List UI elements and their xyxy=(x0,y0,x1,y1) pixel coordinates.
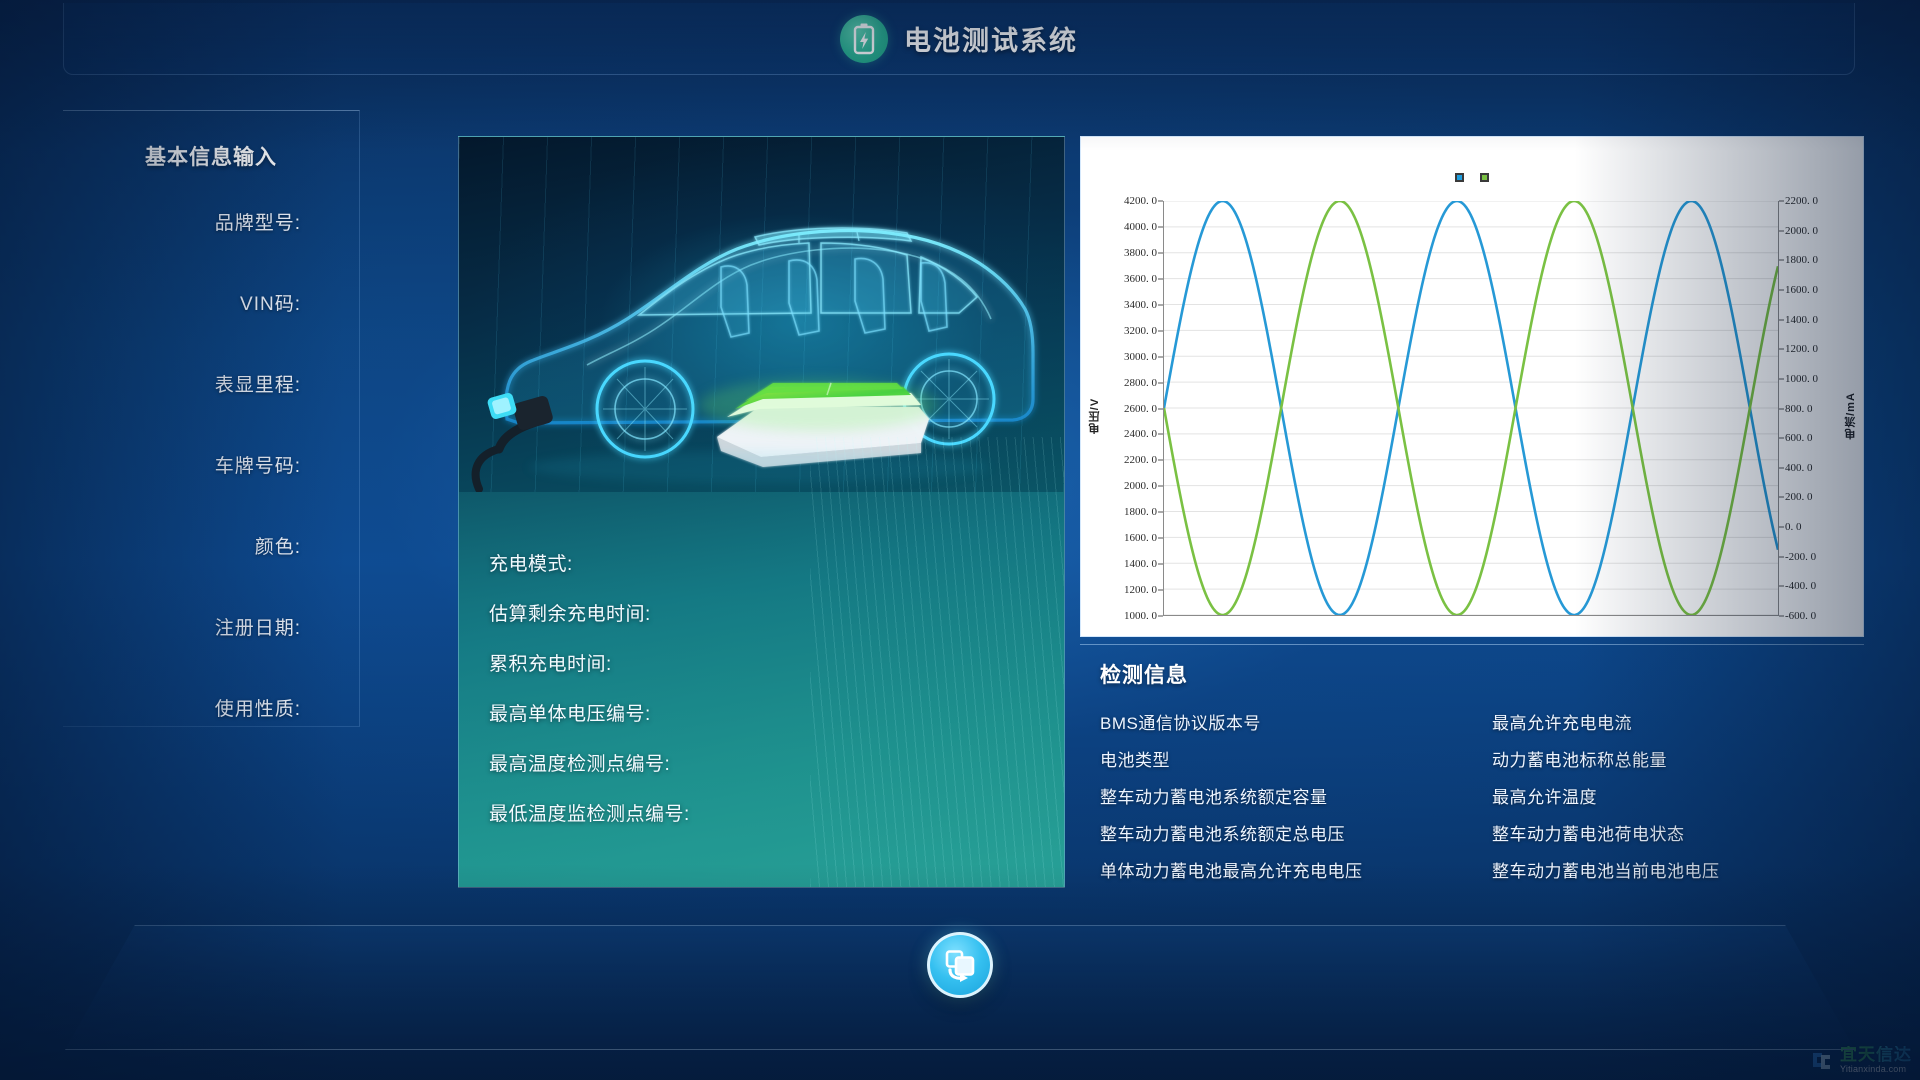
detect-item-max-cell-charge-voltage[interactable]: 单体动力蓄电池最高允许充电电压 xyxy=(1100,853,1492,890)
chart-tick-mark xyxy=(1779,230,1784,231)
chart-tick-label: 2200. 0 xyxy=(1124,454,1157,466)
chart-tick-mark xyxy=(1779,201,1784,202)
field-label-vin: VIN码: xyxy=(240,289,301,316)
chart-tick-mark xyxy=(1779,260,1784,261)
chart-y-axis-label-right: 电流/mA xyxy=(1843,392,1859,440)
switch-windows-icon[interactable] xyxy=(927,932,993,998)
vehicle-charging-panel: 充电模式: 估算剩余充电时间: 累积充电时间: 最高单体电压编号: 最高温度检测… xyxy=(458,136,1065,888)
field-row-plate-number[interactable]: 车牌号码: xyxy=(63,451,359,532)
field-row-usage-type[interactable]: 使用性质: xyxy=(63,694,359,775)
chart-tick-label: 1800. 0 xyxy=(1124,506,1157,518)
detect-item-max-allowed-temperature[interactable]: 最高允许温度 xyxy=(1492,779,1884,816)
detect-item-bms-protocol-version[interactable]: BMS通信协议版本号 xyxy=(1100,705,1492,742)
voltage-current-chart[interactable]: 电压/V 电流/mA 1000. 01200. 01400. 01600. 01… xyxy=(1080,136,1864,637)
chart-tick-label: 1400. 0 xyxy=(1124,558,1157,570)
chart-tick-label: 2400. 0 xyxy=(1124,428,1157,440)
page-title: 电池测试系统 xyxy=(904,19,1078,58)
chart-tick-label: 2000. 0 xyxy=(1785,225,1818,237)
chart-tick-label: 3000. 0 xyxy=(1124,351,1157,363)
chart-tick-label: 800. 0 xyxy=(1785,403,1813,415)
chart-tick-label: 1000. 0 xyxy=(1124,610,1157,622)
chart-tick-mark xyxy=(1779,349,1784,350)
chart-tick-label: 3200. 0 xyxy=(1124,325,1157,337)
field-label-color: 颜色: xyxy=(255,532,301,559)
field-label-max-temp-probe-id: 最高温度检测点编号: xyxy=(489,749,670,776)
detection-info-column-right: 最高允许充电电流 动力蓄电池标称总能量 最高允许温度 整车动力蓄电池荷电状态 整… xyxy=(1492,705,1884,890)
chart-tick-mark xyxy=(1779,497,1784,498)
chart-tick-mark xyxy=(1779,586,1784,587)
detection-info-title: 检测信息 xyxy=(1100,659,1188,689)
chart-tick-label: 1800. 0 xyxy=(1785,254,1818,266)
chart-y-axis-ticks-right: -600. 0-400. 0-200. 00. 0200. 0400. 0600… xyxy=(1779,193,1841,638)
battery-bolt-icon xyxy=(840,15,888,63)
watermark-logo-icon xyxy=(1809,1047,1835,1073)
chart-tick-label: 2600. 0 xyxy=(1124,403,1157,415)
field-label-max-cell-voltage-id: 最高单体电压编号: xyxy=(489,699,651,726)
charging-field-list: 充电模式: 估算剩余充电时间: 累积充电时间: 最高单体电压编号: 最高温度检测… xyxy=(489,537,1049,837)
chart-tick-label: -600. 0 xyxy=(1785,610,1816,622)
watermark-text-cn: 宜天信达 xyxy=(1840,1046,1912,1063)
legend-swatch-current[interactable] xyxy=(1480,173,1489,182)
header-panel: 电池测试系统 xyxy=(63,3,1855,75)
chart-tick-label: 1400. 0 xyxy=(1785,314,1818,326)
chart-tick-label: 3600. 0 xyxy=(1124,273,1157,285)
chart-tick-label: 400. 0 xyxy=(1785,462,1813,474)
field-row-remaining-charge-time[interactable]: 估算剩余充电时间: xyxy=(489,587,1049,637)
field-label-charge-mode: 充电模式: xyxy=(489,549,573,576)
chart-tick-label: 2200. 0 xyxy=(1785,195,1818,207)
field-row-mileage[interactable]: 表显里程: xyxy=(63,370,359,451)
detect-item-nominal-total-energy[interactable]: 动力蓄电池标称总能量 xyxy=(1492,742,1884,779)
chart-tick-mark xyxy=(1779,378,1784,379)
chart-legend xyxy=(1081,173,1863,182)
chart-tick-mark xyxy=(1779,556,1784,557)
field-row-color[interactable]: 颜色: xyxy=(63,532,359,613)
chart-tick-mark xyxy=(1779,467,1784,468)
chart-tick-label: 4200. 0 xyxy=(1124,195,1157,207)
field-row-vin[interactable]: VIN码: xyxy=(63,289,359,370)
chart-tick-mark xyxy=(1779,438,1784,439)
chart-tick-mark xyxy=(1779,527,1784,528)
field-label-register-date: 注册日期: xyxy=(215,613,301,640)
basic-info-panel: 基本信息输入 品牌型号: VIN码: 表显里程: 车牌号码: 颜色: 注册日期:… xyxy=(63,110,360,727)
chart-tick-label: 4000. 0 xyxy=(1124,221,1157,233)
detection-info-column-left: BMS通信协议版本号 电池类型 整车动力蓄电池系统额定容量 整车动力蓄电池系统额… xyxy=(1100,705,1492,890)
watermark-text-en: Yitianxinda.com xyxy=(1840,1065,1912,1074)
chart-tick-label: 200. 0 xyxy=(1785,491,1813,503)
detect-item-rated-total-voltage[interactable]: 整车动力蓄电池系统额定总电压 xyxy=(1100,816,1492,853)
chart-tick-label: 2000. 0 xyxy=(1124,480,1157,492)
chart-tick-label: 0. 0 xyxy=(1785,521,1802,533)
field-row-brand-model[interactable]: 品牌型号: xyxy=(63,208,359,289)
field-row-register-date[interactable]: 注册日期: xyxy=(63,613,359,694)
chart-tick-mark xyxy=(1779,408,1784,409)
detect-item-rated-capacity[interactable]: 整车动力蓄电池系统额定容量 xyxy=(1100,779,1492,816)
field-row-max-temp-probe-id[interactable]: 最高温度检测点编号: xyxy=(489,737,1049,787)
chart-tick-label: 2800. 0 xyxy=(1124,377,1157,389)
chart-plot-area xyxy=(1163,201,1779,616)
chart-tick-label: 1600. 0 xyxy=(1124,532,1157,544)
chart-tick-mark xyxy=(1779,319,1784,320)
watermark: 宜天信达 Yitianxinda.com xyxy=(1809,1046,1912,1074)
chart-tick-label: 1600. 0 xyxy=(1785,284,1818,296)
basic-info-field-list: 品牌型号: VIN码: 表显里程: 车牌号码: 颜色: 注册日期: 使用性质: xyxy=(63,208,359,775)
detection-info-panel: 检测信息 BMS通信协议版本号 电池类型 整车动力蓄电池系统额定容量 整车动力蓄… xyxy=(1080,644,1864,888)
chart-tick-label: -400. 0 xyxy=(1785,580,1816,592)
chart-tick-label: 1000. 0 xyxy=(1785,373,1818,385)
chart-tick-mark xyxy=(1779,289,1784,290)
detect-item-current-battery-voltage[interactable]: 整车动力蓄电池当前电池电压 xyxy=(1492,853,1884,890)
legend-swatch-voltage[interactable] xyxy=(1455,173,1464,182)
ev-illustration xyxy=(459,137,1064,492)
field-row-min-temp-probe-id[interactable]: 最低温度监检测点编号: xyxy=(489,787,1049,837)
field-row-max-cell-voltage-id[interactable]: 最高单体电压编号: xyxy=(489,687,1049,737)
chart-tick-label: -200. 0 xyxy=(1785,551,1816,563)
field-label-plate-number: 车牌号码: xyxy=(215,451,301,478)
chart-tick-label: 3400. 0 xyxy=(1124,299,1157,311)
chart-tick-mark xyxy=(1779,616,1784,617)
field-label-mileage: 表显里程: xyxy=(215,370,301,397)
detect-item-state-of-charge[interactable]: 整车动力蓄电池荷电状态 xyxy=(1492,816,1884,853)
field-label-cumulative-charge-time: 累积充电时间: xyxy=(489,649,612,676)
chart-tick-label: 1200. 0 xyxy=(1124,584,1157,596)
chart-tick-label: 3800. 0 xyxy=(1124,247,1157,259)
chart-tick-label: 600. 0 xyxy=(1785,432,1813,444)
detect-item-battery-type[interactable]: 电池类型 xyxy=(1100,742,1492,779)
field-row-cumulative-charge-time[interactable]: 累积充电时间: xyxy=(489,637,1049,687)
field-label-remaining-charge-time: 估算剩余充电时间: xyxy=(489,599,651,626)
detect-item-max-charge-current[interactable]: 最高允许充电电流 xyxy=(1492,705,1884,742)
chart-y-axis-ticks-left: 1000. 01200. 01400. 01600. 01800. 02000.… xyxy=(1101,193,1163,638)
field-label-usage-type: 使用性质: xyxy=(215,694,301,721)
field-label-min-temp-probe-id: 最低温度监检测点编号: xyxy=(489,799,690,826)
field-row-charge-mode[interactable]: 充电模式: xyxy=(489,537,1049,587)
field-label-brand-model: 品牌型号: xyxy=(215,208,301,235)
chart-tick-label: 1200. 0 xyxy=(1785,343,1818,355)
basic-info-title: 基本信息输入 xyxy=(63,141,359,171)
